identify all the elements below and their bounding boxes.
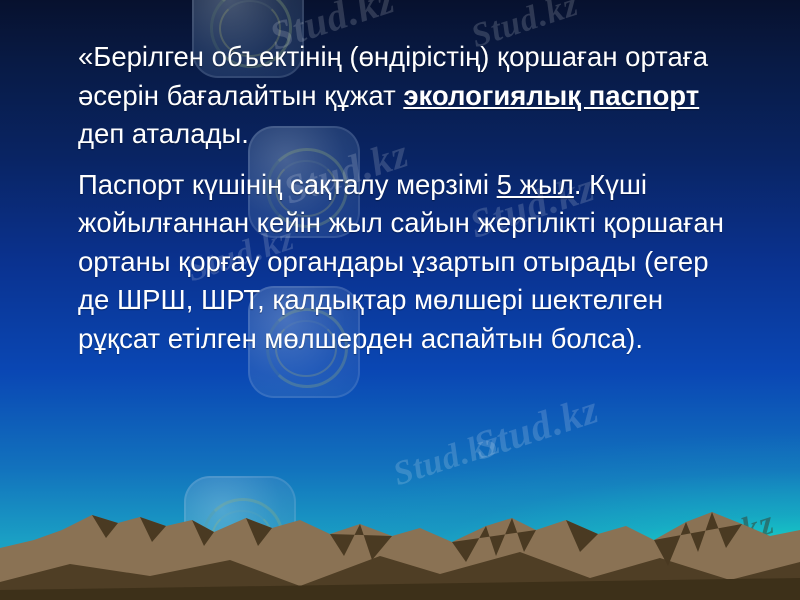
paragraph-definition: «Берілген объектінің (өндірістің) қоршағ… [78,38,738,154]
text-segment: деп аталады. [78,118,249,149]
paragraph-validity: Паспорт күшінің сақталу мерзімі 5 жыл. К… [78,166,738,359]
term-validity-period: 5 жыл [497,169,574,200]
term-ecological-passport: экологиялық паспорт [403,80,699,111]
presentation-slide: Stud.kzStud.kzStud.kzStud.kzStud.kzStud.… [0,0,800,600]
text-segment: Паспорт күшінің сақталу мерзімі [78,169,497,200]
slide-text-body: «Берілген объектінің (өндірістің) қоршағ… [78,38,738,358]
